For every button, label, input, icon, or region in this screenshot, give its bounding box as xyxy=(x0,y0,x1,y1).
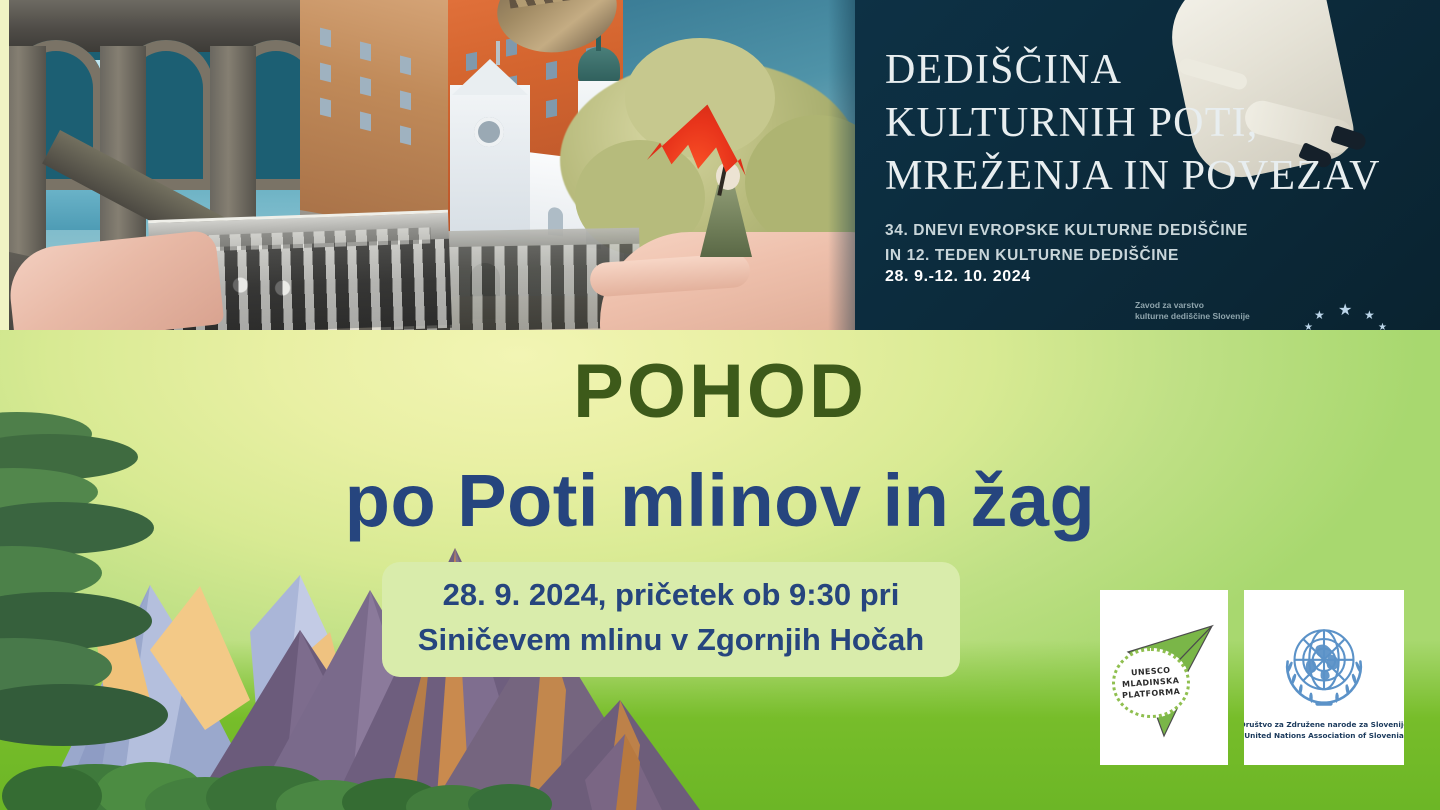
unesco-label-line-1: UNESCO xyxy=(1131,666,1171,678)
unesco-badge-circle: UNESCO MLADINSKA PLATFORMA xyxy=(1112,648,1190,718)
unesco-youth-platform-logo: UNESCO MLADINSKA PLATFORMA xyxy=(1100,590,1228,765)
institute-credit-line-1: Zavod za varstvo xyxy=(1135,300,1250,311)
page-subtitle: po Poti mlinov in žag xyxy=(0,462,1440,540)
un-caption-english: United Nations Association of Slovenia xyxy=(1244,731,1404,742)
heritage-days-banner-image: DEDIŠČINA KULTURNIH POTI, MREŽENJA IN PO… xyxy=(0,0,1440,330)
banner-subheading: 34. DNEVI EVROPSKE KULTURNE DEDIŠČINE IN… xyxy=(885,218,1405,268)
event-details-box: 28. 9. 2024, pričetek ob 9:30 pri Siniče… xyxy=(382,562,960,677)
banner-heading-line-2: KULTURNIH POTI, xyxy=(885,97,1405,150)
institute-credit-line-2: kulturne dediščine Slovenije xyxy=(1135,311,1250,322)
unesco-label-line-3: PLATFORMA xyxy=(1122,687,1181,700)
un-association-slovenia-logo: Društvo za Združene narode za Slovenijo … xyxy=(1244,590,1404,765)
banner-heading-line-3: MREŽENJA IN POVEZAV xyxy=(885,150,1405,203)
pine-tree-illustration xyxy=(0,406,212,736)
banner-left-edge-strip xyxy=(0,0,9,330)
united-nations-emblem-icon xyxy=(1272,613,1376,717)
banner-subheading-line-1: 34. DNEVI EVROPSKE KULTURNE DEDIŠČINE xyxy=(885,218,1405,243)
banner-subheading-line-2: IN 12. TEDEN KULTURNE DEDIŠČINE xyxy=(885,243,1405,268)
banner-heading-line-1: DEDIŠČINA xyxy=(885,44,1405,97)
poster-root: DEDIŠČINA KULTURNIH POTI, MREŽENJA IN PO… xyxy=(0,0,1440,810)
event-details-line-1: 28. 9. 2024, pričetek ob 9:30 pri xyxy=(404,572,938,617)
banner-heading: DEDIŠČINA KULTURNIH POTI, MREŽENJA IN PO… xyxy=(885,44,1405,203)
eu-stars-icon: ★ ★ ★ ★ ★ xyxy=(1300,300,1410,330)
un-caption-slovenian: Društvo za Združene narode za Slovenijo xyxy=(1244,720,1404,731)
un-logo-caption: Društvo za Združene narode za Slovenijo … xyxy=(1244,720,1404,742)
banner-dates: 28. 9.-12. 10. 2024 xyxy=(885,268,1031,286)
institute-credit: Zavod za varstvo kulturne dediščine Slov… xyxy=(1135,300,1250,322)
page-title: POHOD xyxy=(0,354,1440,430)
logo-row: UNESCO MLADINSKA PLATFORMA xyxy=(1100,590,1420,770)
event-details-line-2: Siničevem mlinu v Zgornjih Hočah xyxy=(404,617,938,662)
